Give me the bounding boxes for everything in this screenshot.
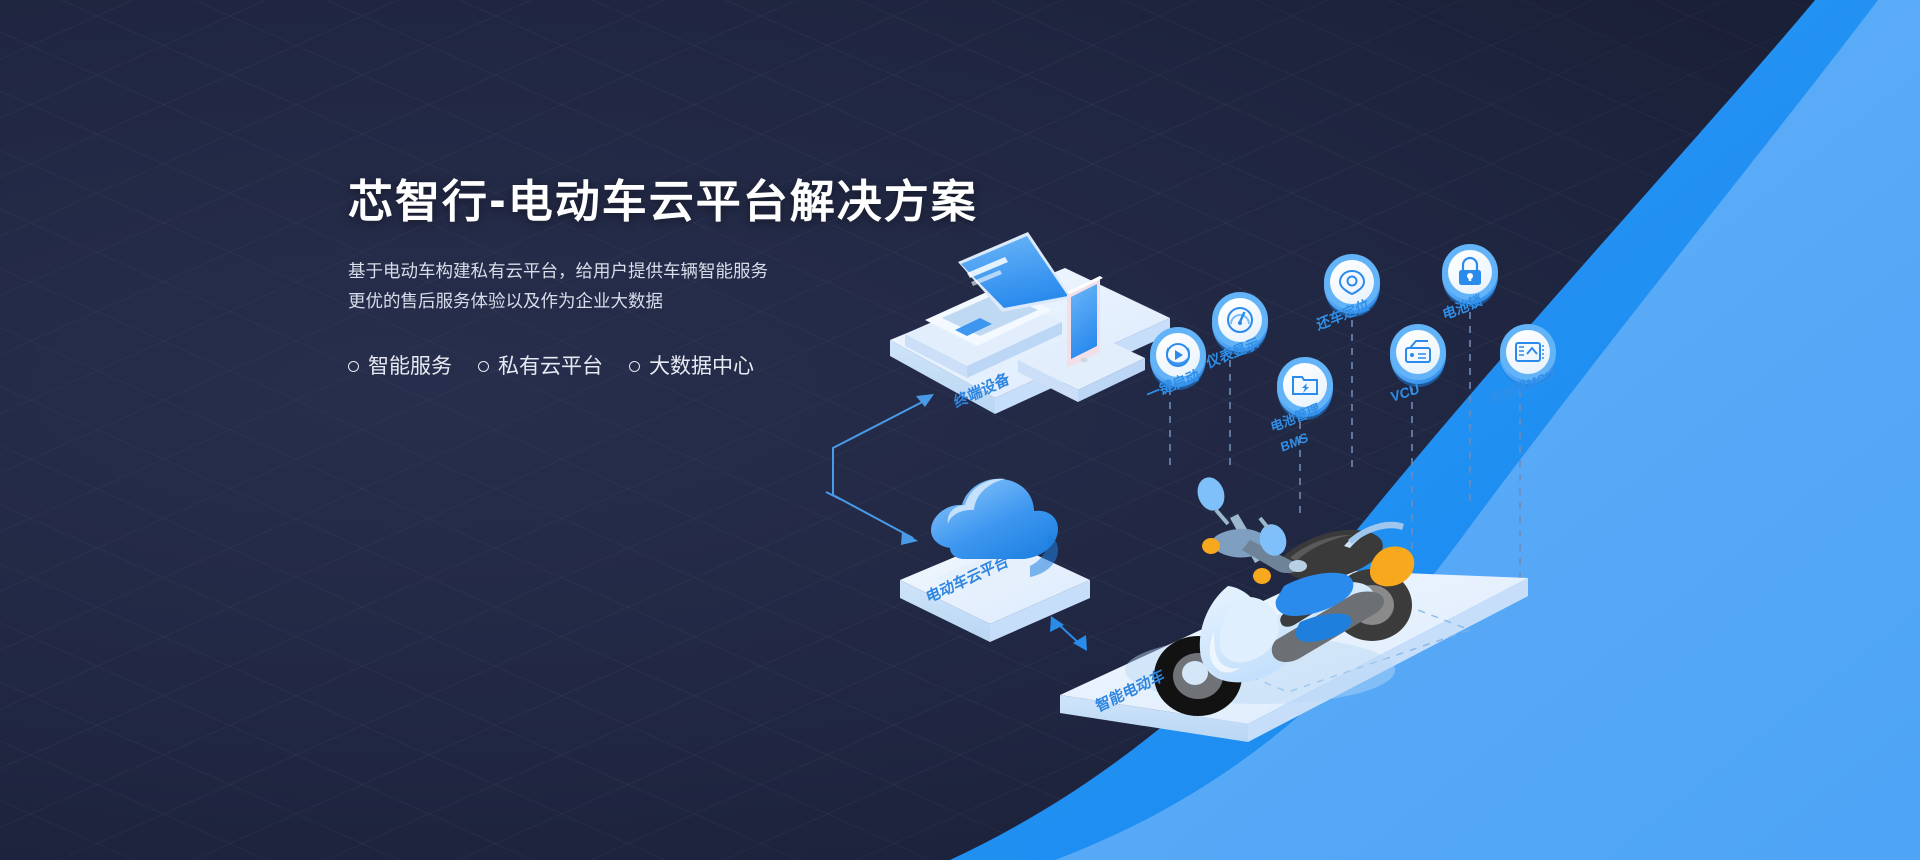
feature-tag-label: 大数据中心 (649, 356, 754, 377)
feature-tag-label: 私有云平台 (498, 356, 603, 377)
subtitle-line-1: 基于电动车构建私有云平台，给用户提供车辆智能服务 (348, 256, 988, 286)
feature-tag-list: 智能服务 私有云平台 大数据中心 (348, 356, 988, 377)
platform-smart-ebike: 智能电动车 (1060, 474, 1528, 742)
platform-cloud: 电动车云平台 (900, 479, 1090, 642)
feature-badge-return-positioning[interactable]: 还车定位 (1314, 254, 1380, 333)
hero-subtitle: 基于电动车构建私有云平台，给用户提供车辆智能服务 更优的售后服务体验以及作为企业… (348, 256, 988, 316)
feature-badge-battery-management[interactable]: 电池管理 BMS (1269, 357, 1333, 455)
badge-label: VCU (1389, 380, 1420, 405)
hero-banner: 芯智行-电动车云平台解决方案 基于电动车构建私有云平台，给用户提供车辆智能服务 … (0, 0, 1920, 860)
feature-tag-smart-service: 智能服务 (348, 356, 452, 377)
badge-label-line2: BMS (1279, 429, 1310, 455)
ring-bullet-icon (629, 361, 640, 372)
ring-bullet-icon (348, 361, 359, 372)
feature-badge-battery-lock[interactable]: 电池锁 (1441, 244, 1498, 323)
cloud-to-terminal-arrow (826, 394, 934, 545)
feature-tag-label: 智能服务 (368, 356, 452, 377)
feature-badge-controller-mcu[interactable]: 控制器MCU (1489, 324, 1556, 407)
cloud-to-ebike-arrow (1050, 616, 1087, 651)
feature-tag-private-cloud: 私有云平台 (478, 356, 603, 377)
ring-bullet-icon (478, 361, 489, 372)
hero-text-block: 芯智行-电动车云平台解决方案 基于电动车构建私有云平台，给用户提供车辆智能服务 … (348, 176, 988, 377)
isometric-illustration: 终端设备 电动车云平台 (0, 0, 1920, 860)
feature-badge-vcu[interactable]: VCU (1389, 324, 1446, 405)
subtitle-line-2: 更优的售后服务体验以及作为企业大数据 (348, 286, 988, 316)
feature-badge-dashboard-display[interactable]: 仪表显示 (1204, 292, 1268, 371)
electric-scooter-icon (1125, 474, 1414, 716)
page-title: 芯智行-电动车云平台解决方案 (348, 176, 988, 228)
feature-tag-big-data-center: 大数据中心 (629, 356, 754, 377)
